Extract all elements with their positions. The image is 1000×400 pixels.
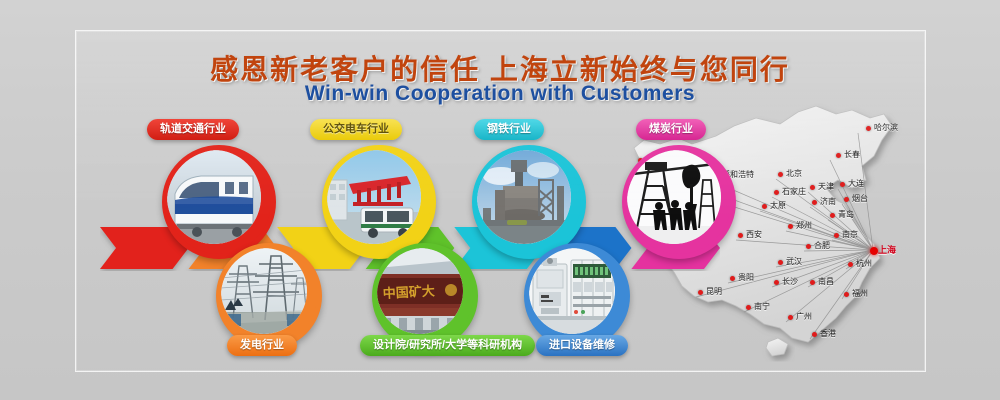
city-dot bbox=[844, 197, 849, 202]
city-dot bbox=[844, 292, 849, 297]
industry-circle-steel[interactable] bbox=[472, 145, 586, 259]
city-dot bbox=[812, 332, 817, 337]
city-label: 济南 bbox=[820, 196, 836, 207]
city-dot bbox=[774, 190, 779, 195]
industry-circle-import-repair[interactable] bbox=[524, 243, 630, 349]
industry-circle-power[interactable] bbox=[216, 243, 322, 349]
city-label: 贵阳 bbox=[738, 272, 754, 283]
city-label: 郑州 bbox=[796, 220, 812, 231]
power-tower-icon bbox=[221, 248, 307, 334]
city-label: 武汉 bbox=[786, 256, 802, 267]
industry-label-research: 设计院/研究所/大学等科研机构 bbox=[360, 335, 535, 356]
city-label: 杭州 bbox=[856, 258, 872, 269]
city-dot bbox=[788, 224, 793, 229]
city-dot bbox=[810, 185, 815, 190]
city-label: 太原 bbox=[770, 200, 786, 211]
city-dot bbox=[762, 204, 767, 209]
city-label: 广州 bbox=[796, 311, 812, 322]
industry-label-coal: 煤炭行业 bbox=[636, 119, 706, 140]
city-dot bbox=[812, 200, 817, 205]
industry-circle-research[interactable]: 中国矿大 bbox=[372, 243, 478, 349]
industry-label-rail: 轨道交通行业 bbox=[147, 119, 239, 140]
city-label: 烟台 bbox=[852, 193, 868, 204]
city-dot bbox=[698, 290, 703, 295]
industry-circle-coal[interactable] bbox=[622, 145, 736, 259]
coal-derrick-icon bbox=[627, 150, 721, 244]
city-dot bbox=[810, 280, 815, 285]
city-dot bbox=[836, 153, 841, 158]
city-label: 西安 bbox=[746, 229, 762, 240]
city-dot bbox=[806, 244, 811, 249]
university-sign-icon: 中国矿大 bbox=[377, 248, 463, 334]
industry-label-steel: 钢铁行业 bbox=[474, 119, 544, 140]
city-dot bbox=[738, 233, 743, 238]
city-dot bbox=[866, 126, 871, 131]
city-label: 福州 bbox=[852, 288, 868, 299]
city-dot bbox=[774, 280, 779, 285]
steel-mill-icon bbox=[477, 150, 571, 244]
bus-icon bbox=[327, 150, 421, 244]
train-icon bbox=[167, 150, 261, 244]
city-dot bbox=[834, 233, 839, 238]
svg-text:中国矿大: 中国矿大 bbox=[382, 283, 435, 302]
city-label: 南宁 bbox=[754, 301, 770, 312]
city-label: 南昌 bbox=[818, 276, 834, 287]
banner-canvas: 哈尔滨长春乌鲁木齐呼和浩特北京天津大连银川石家庄济南烟台太原青岛郑州西安南京合肥… bbox=[0, 0, 1000, 400]
industry-label-import-repair: 进口设备维修 bbox=[536, 335, 628, 356]
city-label: 青岛 bbox=[838, 209, 854, 220]
city-label: 南京 bbox=[842, 229, 858, 240]
switchgear-icon bbox=[529, 248, 615, 334]
city-dot bbox=[778, 260, 783, 265]
city-label: 长春 bbox=[844, 149, 860, 160]
city-label: 合肥 bbox=[814, 240, 830, 251]
city-label: 北京 bbox=[786, 168, 802, 179]
city-label: 大连 bbox=[848, 178, 864, 189]
city-dot bbox=[830, 213, 835, 218]
city-dot bbox=[746, 305, 751, 310]
city-label: 哈尔滨 bbox=[874, 122, 898, 133]
city-label: 香港 bbox=[820, 328, 836, 339]
city-label: 上海 bbox=[878, 243, 896, 256]
industry-circle-bus[interactable] bbox=[322, 145, 436, 259]
city-dot bbox=[870, 247, 878, 255]
banner-title-en: Win-win Cooperation with Customers bbox=[0, 82, 1000, 106]
city-dot bbox=[788, 315, 793, 320]
industry-label-power: 发电行业 bbox=[227, 335, 297, 356]
city-dot bbox=[848, 262, 853, 267]
city-label: 石家庄 bbox=[782, 186, 806, 197]
city-dot bbox=[730, 276, 735, 281]
city-dot bbox=[840, 182, 845, 187]
city-label: 长沙 bbox=[782, 276, 798, 287]
industry-label-bus: 公交电车行业 bbox=[310, 119, 402, 140]
industry-circle-rail[interactable] bbox=[162, 145, 276, 259]
city-dot bbox=[778, 172, 783, 177]
city-label: 昆明 bbox=[706, 286, 722, 297]
city-label: 天津 bbox=[818, 181, 834, 192]
